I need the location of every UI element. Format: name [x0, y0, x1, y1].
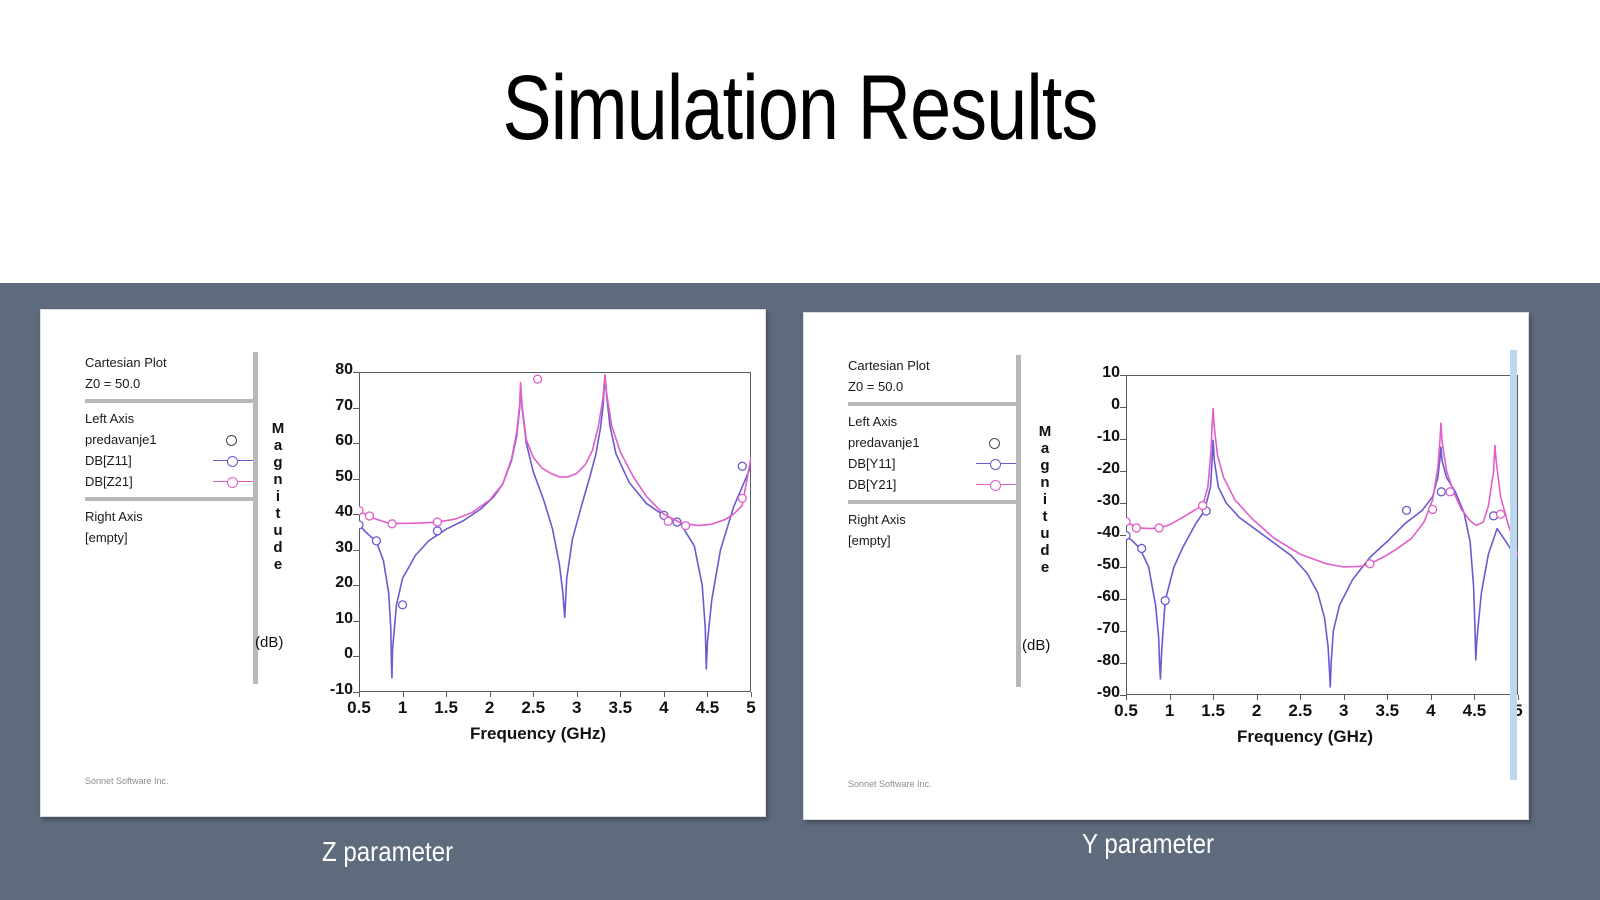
- series-marker: [1437, 488, 1445, 496]
- series-marker: [534, 375, 542, 383]
- vertical-scrollbar[interactable]: [1510, 350, 1517, 780]
- legend-project-row[interactable]: predavanje1: [848, 432, 1016, 453]
- legend-impedance: Z0 = 50.0: [85, 373, 253, 394]
- x-axis-tick-label: 4.5: [1452, 701, 1496, 721]
- legend-separator: [848, 500, 1016, 504]
- legend-trace-label-y21: DB[Y21]: [848, 474, 896, 495]
- x-axis-tick-label: 2: [468, 698, 512, 718]
- series-marker: [355, 507, 363, 515]
- legend-header: Cartesian Plot: [85, 352, 253, 373]
- x-axis-tick-label: 1: [381, 698, 425, 718]
- x-axis-tick-label: 4.5: [685, 698, 729, 718]
- series-marker: [433, 518, 441, 526]
- series-marker: [738, 462, 746, 470]
- series-marker: [1155, 524, 1163, 532]
- series-marker: [1403, 506, 1411, 514]
- legend-right-axis-label: Right Axis: [848, 509, 1016, 530]
- x-axis-title: Frequency (GHz): [1237, 727, 1373, 747]
- legend-separator: [848, 402, 1016, 406]
- legend-left-axis-label: Left Axis: [848, 411, 1016, 432]
- legend-trace-row-z21[interactable]: DB[Z21]: [85, 471, 253, 492]
- series-marker: [1429, 505, 1437, 513]
- legend-left-axis-label: Left Axis: [85, 408, 253, 429]
- x-axis-tick-label: 0.5: [337, 698, 381, 718]
- x-axis-tick-label: 4: [642, 698, 686, 718]
- series-marker: [1446, 488, 1454, 496]
- chart-curves: [241, 372, 761, 694]
- series-marker: [738, 494, 746, 502]
- x-axis-tick-label: 5: [1496, 701, 1540, 721]
- plot-card-z-parameter[interactable]: Cartesian Plot Z0 = 50.0 Left Axis preda…: [40, 309, 766, 817]
- x-axis-tick-label: 3.5: [1365, 701, 1409, 721]
- legend-panel-z: Cartesian Plot Z0 = 50.0 Left Axis preda…: [85, 352, 253, 548]
- series-marker: [1199, 502, 1207, 510]
- legend-project-row[interactable]: predavanje1: [85, 429, 253, 450]
- series-marker: [399, 601, 407, 609]
- plot-card-y-parameter[interactable]: Cartesian Plot Z0 = 50.0 Left Axis preda…: [803, 312, 1529, 820]
- x-axis-tick-label: 0.5: [1104, 701, 1148, 721]
- legend-trace-label-y11: DB[Y11]: [848, 453, 895, 474]
- x-axis-tick-label: 2.5: [1278, 701, 1322, 721]
- caption-y-parameter: Y parameter: [1082, 828, 1214, 860]
- caption-z-parameter: Z parameter: [322, 836, 453, 868]
- legend-separator: [85, 497, 253, 501]
- x-axis-tick-label: 1: [1148, 701, 1192, 721]
- series-marker: [365, 512, 373, 520]
- legend-project-label: predavanje1: [85, 429, 157, 450]
- legend-trace-label-z11: DB[Z11]: [85, 450, 132, 471]
- chart-y-parameter[interactable]: 100-10-20-30-40-50-60-70-80-900.511.522.…: [1000, 375, 1520, 775]
- series-marker: [1497, 510, 1505, 518]
- series-marker: [372, 537, 380, 545]
- legend-trace-row-y11[interactable]: DB[Y11]: [848, 453, 1016, 474]
- series-marker: [1122, 518, 1130, 526]
- legend-panel-y: Cartesian Plot Z0 = 50.0 Left Axis preda…: [848, 355, 1016, 551]
- watermark-sonnet: Sonnet Software Inc.: [848, 779, 932, 789]
- series-line: [359, 376, 751, 678]
- series-marker: [1366, 560, 1374, 568]
- x-axis-tick-label: 1.5: [1191, 701, 1235, 721]
- x-axis-tick-label: 5: [729, 698, 773, 718]
- chart-z-parameter[interactable]: 80706050403020100-100.511.522.533.544.55…: [241, 372, 751, 772]
- series-marker: [1161, 597, 1169, 605]
- legend-trace-row-y21[interactable]: DB[Y21]: [848, 474, 1016, 495]
- series-line: [359, 375, 751, 526]
- series-line: [1126, 441, 1518, 687]
- x-axis-tick-label: 3.5: [598, 698, 642, 718]
- series-marker: [433, 527, 441, 535]
- legend-impedance: Z0 = 50.0: [848, 376, 1016, 397]
- chart-curves: [1000, 375, 1528, 697]
- legend-trace-label-z21: DB[Z21]: [85, 471, 133, 492]
- series-marker: [1138, 544, 1146, 552]
- series-marker: [1132, 524, 1140, 532]
- series-marker: [682, 522, 690, 530]
- series-marker: [355, 521, 363, 529]
- series-marker: [1122, 532, 1130, 540]
- legend-header: Cartesian Plot: [848, 355, 1016, 376]
- legend-right-axis-value: [empty]: [848, 530, 1016, 551]
- series-marker: [664, 517, 672, 525]
- legend-separator: [85, 399, 253, 403]
- series-marker: [388, 520, 396, 528]
- legend-project-label: predavanje1: [848, 432, 920, 453]
- x-axis-tick-label: 3: [555, 698, 599, 718]
- watermark-sonnet: Sonnet Software Inc.: [85, 776, 169, 786]
- x-axis-tick-label: 2.5: [511, 698, 555, 718]
- legend-trace-row-z11[interactable]: DB[Z11]: [85, 450, 253, 471]
- x-axis-tick-label: 4: [1409, 701, 1453, 721]
- x-axis-tick-label: 3: [1322, 701, 1366, 721]
- x-axis-tick-label: 2: [1235, 701, 1279, 721]
- legend-right-axis-label: Right Axis: [85, 506, 253, 527]
- x-axis-title: Frequency (GHz): [470, 724, 606, 744]
- x-axis-tick-label: 1.5: [424, 698, 468, 718]
- legend-right-axis-value: [empty]: [85, 527, 253, 548]
- page-title: Simulation Results: [160, 62, 1440, 154]
